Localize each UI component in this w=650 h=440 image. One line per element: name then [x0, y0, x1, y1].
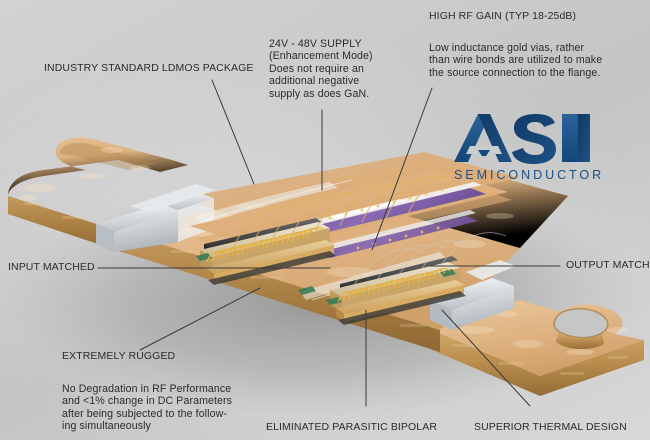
asi-semiconductor-logo: SEMICONDUCTOR: [452, 112, 592, 188]
callout-high-rf-gain: HIGH RF GAIN (TYP 18-25dB): [429, 10, 576, 22]
callout-supply-line-1: 24V - 48V SUPPLY: [269, 38, 373, 50]
asi-wordmark-icon: [452, 112, 592, 168]
callout-rugged-line-1: No Degradation in RF Performance: [62, 383, 232, 395]
callout-supply-line-2: (Enhancement Mode): [269, 50, 373, 62]
callout-gold-vias: Low inductance gold vias, rather than wi…: [429, 42, 602, 79]
callout-extremely-rugged: EXTREMELY RUGGED: [62, 350, 175, 362]
callout-supply-line-5: supply as does GaN.: [269, 88, 373, 100]
callout-output-matched: OUTPUT MATCHED: [566, 259, 650, 271]
product-diagram: INDUSTRY STANDARD LDMOS PACKAGE 24V - 48…: [0, 0, 650, 440]
callout-input-matched: INPUT MATCHED: [8, 261, 95, 273]
callout-rugged-line-2: and <1% change in DC Parameters: [62, 395, 232, 407]
callout-superior-thermal-design: SUPERIOR THERMAL DESIGN: [474, 421, 627, 433]
callout-supply-line-3: Does not require an: [269, 63, 373, 75]
callout-supply: 24V - 48V SUPPLY (Enhancement Mode) Does…: [269, 38, 373, 100]
callout-vias-line-2: than wire bonds are utilized to make: [429, 54, 602, 66]
callout-industry-standard-package: INDUSTRY STANDARD LDMOS PACKAGE: [44, 62, 253, 74]
callout-eliminated-parasitic-bipolar: ELIMINATED PARASITIC BIPOLAR: [266, 421, 437, 433]
callout-supply-line-4: additional negative: [269, 75, 373, 87]
asi-logo-tagline: SEMICONDUCTOR: [454, 168, 604, 182]
callout-rugged-line-3: after being subjected to the follow-: [62, 408, 232, 420]
callout-rugged-detail: No Degradation in RF Performance and <1%…: [62, 383, 232, 433]
callout-vias-line-1: Low inductance gold vias, rather: [429, 42, 602, 54]
callout-vias-line-3: the source connection to the flange.: [429, 67, 602, 79]
callout-rugged-line-4: ing simultaneously: [62, 420, 232, 432]
